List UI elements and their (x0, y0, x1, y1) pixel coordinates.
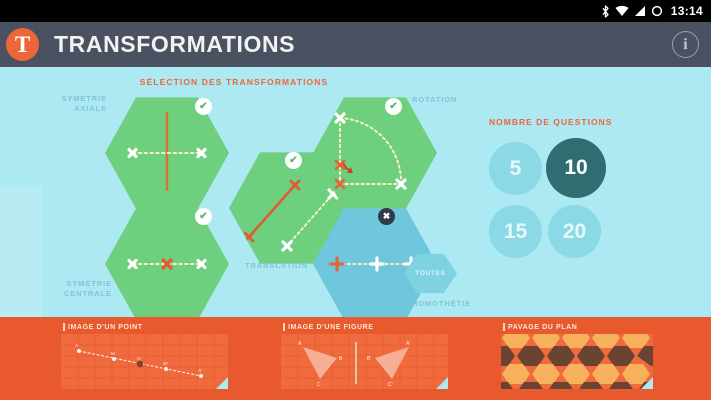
status-time: 13:14 (671, 4, 703, 18)
question-count-value: 10 (564, 156, 587, 180)
exercise-card-title: IMAGE D'UNE FIGURE (281, 323, 448, 331)
question-count-option-5[interactable]: 5 (489, 142, 542, 195)
exercise-card-title-text: PAVAGE DU PLAN (508, 324, 577, 331)
page-title: TRANSFORMATIONS (54, 31, 295, 58)
hexagon-badge-translation[interactable]: ✔ (285, 152, 302, 169)
svg-text:A: A (75, 343, 79, 349)
hexagon-label-line2: CENTRALE (55, 289, 112, 299)
svg-text:O: O (137, 356, 141, 362)
hexagon-label-line1: SYMÉTRIE (55, 279, 112, 289)
check-icon: ✔ (289, 156, 297, 166)
exercise-cards-panel: IMAGE D'UN POINT (0, 317, 711, 400)
app-logo-letter: T (15, 33, 30, 56)
exercise-card-image-dune-figure[interactable]: IMAGE D'UNE FIGURE (281, 323, 448, 389)
exercise-card-image-dun-point[interactable]: IMAGE D'UN POINT (61, 323, 228, 389)
title-bar-icon (63, 323, 65, 331)
select-all-label: TOUTES (415, 270, 445, 277)
wifi-icon (615, 5, 629, 17)
question-count-value: 20 (563, 220, 586, 244)
hexagon-label-symetrie-axiale: SYMÉTRIE AXIALE (55, 94, 107, 114)
info-icon[interactable]: i (672, 31, 699, 58)
check-icon: ✔ (199, 102, 207, 112)
question-count-option-10[interactable]: 10 (546, 138, 606, 198)
hexagon-badge-homothetie[interactable]: ✖ (378, 208, 395, 225)
hexagon-badge-symetrie-axiale[interactable]: ✔ (195, 98, 212, 115)
svg-text:C: C (317, 382, 321, 388)
exercise-card-title: PAVAGE DU PLAN (501, 323, 653, 331)
questions-count-title: NOMBRE DE QUESTIONS (489, 117, 612, 127)
exercise-card-thumbnail: ABC B'A'C' (281, 334, 448, 389)
svg-text:A': A' (198, 368, 202, 374)
hexagon-badge-symetrie-centrale[interactable]: ✔ (195, 208, 212, 225)
question-count-option-15[interactable]: 15 (489, 205, 542, 258)
app-root: 13:14 T TRANSFORMATIONS i SÉLECTION DES … (0, 0, 711, 400)
svg-text:A': A' (406, 341, 410, 347)
section-title: SÉLECTION DES TRANSFORMATIONS (0, 77, 468, 87)
hexagon-label-translation: TRANSLATION (245, 261, 335, 271)
android-status-bar: 13:14 (0, 0, 711, 22)
exercise-card-thumbnail: AM OM'A' (61, 334, 228, 389)
title-bar-icon (503, 323, 505, 331)
panel-light-band (0, 187, 42, 317)
hexagon-badge-rotation[interactable]: ✔ (385, 98, 402, 115)
close-icon: ✖ (383, 212, 391, 221)
app-title-bar: T TRANSFORMATIONS i (0, 22, 711, 67)
exercise-card-title-text: IMAGE D'UNE FIGURE (288, 324, 374, 331)
app-logo: T (6, 28, 39, 61)
bluetooth-icon (601, 5, 610, 18)
hexagon-symetrie-centrale[interactable] (105, 206, 229, 317)
exercise-card-title-text: IMAGE D'UN POINT (68, 324, 143, 331)
signal-icon (634, 5, 646, 17)
hexagon-symetrie-axiale[interactable] (105, 95, 229, 211)
svg-text:B: B (339, 356, 343, 362)
transformation-selection-panel: SÉLECTION DES TRANSFORMATIONS ✔ SYMÉTRIE… (0, 67, 711, 317)
svg-text:M': M' (163, 361, 168, 367)
svg-text:C': C' (388, 382, 393, 388)
alarm-icon (651, 5, 663, 17)
hexagon-label-symetrie-centrale: SYMÉTRIE CENTRALE (55, 279, 112, 299)
question-count-option-20[interactable]: 20 (548, 205, 601, 258)
svg-text:M: M (111, 351, 115, 357)
check-icon: ✔ (199, 212, 207, 222)
question-count-value: 5 (510, 157, 522, 181)
question-count-value: 15 (504, 220, 527, 244)
svg-text:B': B' (367, 356, 371, 362)
svg-text:A: A (298, 341, 302, 347)
hexagon-label-line1: SYMÉTRIE (55, 94, 107, 104)
check-icon: ✔ (389, 102, 397, 112)
exercise-card-thumbnail (501, 334, 653, 389)
title-bar-icon (283, 323, 285, 331)
exercise-card-pavage-du-plan[interactable]: PAVAGE DU PLAN (501, 323, 653, 389)
hexagon-label-homothetie: HOMOTHÉTIE (412, 299, 487, 309)
info-icon-glyph: i (683, 36, 687, 54)
hexagon-label-rotation: ROTATION (412, 95, 482, 105)
hexagon-label-line2: AXIALE (55, 104, 107, 114)
exercise-card-title: IMAGE D'UN POINT (61, 323, 228, 331)
